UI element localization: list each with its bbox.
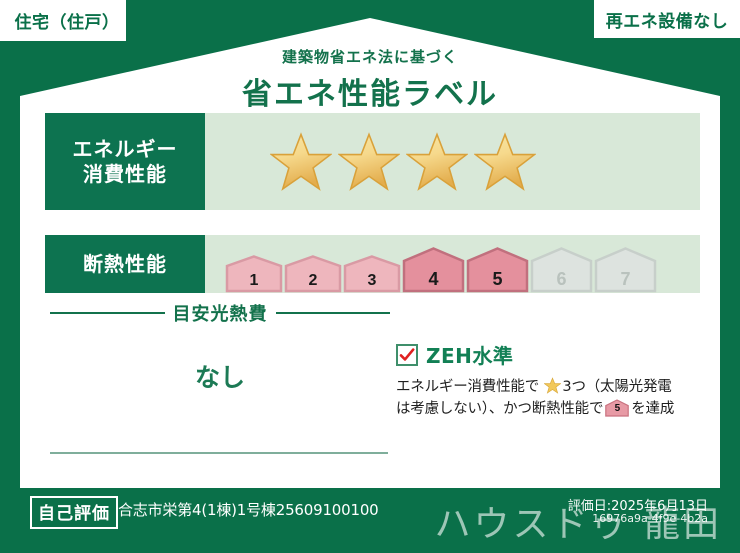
energy-performance-stars <box>205 113 700 210</box>
utility-cost-value: なし <box>50 358 390 394</box>
zeh-desc-part3: を達成 <box>631 401 674 417</box>
energy-performance-label-line1: エネルギー <box>73 137 178 162</box>
star-icon <box>406 132 468 192</box>
insulation-grade-value: 3 <box>343 272 401 290</box>
insulation-grade-value: 1 <box>225 272 283 290</box>
insulation-grade-3: 3 <box>343 255 401 293</box>
label-title-block: 建築物省エネ法に基づく 省エネ性能ラベル <box>20 46 720 113</box>
heading-rule-right <box>276 312 391 314</box>
zeh-heading: ZEH水準 <box>396 340 701 369</box>
insulation-grade-scale: 1234567 <box>205 235 700 293</box>
insulation-performance-label-text: 断熱性能 <box>83 252 167 277</box>
utility-cost-bottom-rule <box>50 452 388 454</box>
insulation-grade-4: 4 <box>402 247 465 293</box>
self-evaluation-badge: 自己評価 <box>30 496 118 529</box>
energy-performance-row: エネルギー 消費性能 <box>45 113 700 210</box>
insulation-grade-6: 6 <box>530 247 593 293</box>
insulation-grade-5: 5 <box>466 247 529 293</box>
insulation-grade-badge-value: 5 <box>605 401 629 417</box>
insulation-performance-row: 断熱性能 1234567 <box>45 235 700 293</box>
insulation-grade-value: 4 <box>402 269 465 290</box>
energy-performance-label-line2: 消費性能 <box>83 162 167 187</box>
insulation-grade-1: 1 <box>225 255 283 293</box>
star-icon <box>270 132 332 192</box>
zeh-desc-part1: エネルギー消費性能で <box>396 379 539 395</box>
building-type-tag: 住宅（住戸） <box>0 0 126 41</box>
evaluation-id: 16976a9a-4f9e-4b2a <box>592 512 708 525</box>
insulation-grade-7: 7 <box>594 247 657 293</box>
zeh-title: ZEH水準 <box>426 340 513 369</box>
energy-performance-label: 住宅（住戸） 再エネ設備なし 建築物省エネ法に基づく 省エネ性能ラベル エネルギ… <box>0 0 740 553</box>
star-icon <box>474 132 536 192</box>
utility-cost-heading: 目安光熱費 <box>50 300 390 326</box>
star-icon <box>338 132 400 192</box>
building-name: 合志市栄第4(1棟)1号棟25609100100 <box>118 499 379 520</box>
zeh-checkbox[interactable] <box>396 344 418 366</box>
zeh-desc-star-count: 3つ（太陽光発電 <box>562 379 671 395</box>
insulation-grade-badge-inline: 5 <box>605 399 629 417</box>
star-icon <box>544 377 561 394</box>
utility-cost-heading-text: 目安光熱費 <box>173 300 268 326</box>
renewable-energy-tag: 再エネ設備なし <box>594 0 740 38</box>
insulation-grade-value: 7 <box>594 269 657 290</box>
zeh-desc-part2: は考慮しない）、かつ断熱性能で <box>396 401 603 417</box>
heading-rule-left <box>50 312 165 314</box>
main-panel: 建築物省エネ法に基づく 省エネ性能ラベル エネルギー 消費性能 断熱性能 123… <box>20 18 720 488</box>
zeh-section: ZEH水準 エネルギー消費性能で 3つ（太陽光発電 は考慮しない）、かつ断熱性能… <box>396 340 701 421</box>
zeh-description: エネルギー消費性能で 3つ（太陽光発電 は考慮しない）、かつ断熱性能で5を達成 <box>396 376 701 421</box>
footer-bar: 自己評価 合志市栄第4(1棟)1号棟25609100100 評価日:2025年6… <box>0 488 740 553</box>
label-subtitle: 建築物省エネ法に基づく <box>20 46 720 67</box>
check-icon <box>399 347 415 363</box>
insulation-grade-value: 2 <box>284 272 342 290</box>
insulation-performance-label: 断熱性能 <box>45 235 205 293</box>
insulation-grade-value: 6 <box>530 269 593 290</box>
insulation-grade-2: 2 <box>284 255 342 293</box>
energy-performance-label: エネルギー 消費性能 <box>45 113 205 210</box>
label-title: 省エネ性能ラベル <box>20 69 720 113</box>
insulation-grade-value: 5 <box>466 269 529 290</box>
